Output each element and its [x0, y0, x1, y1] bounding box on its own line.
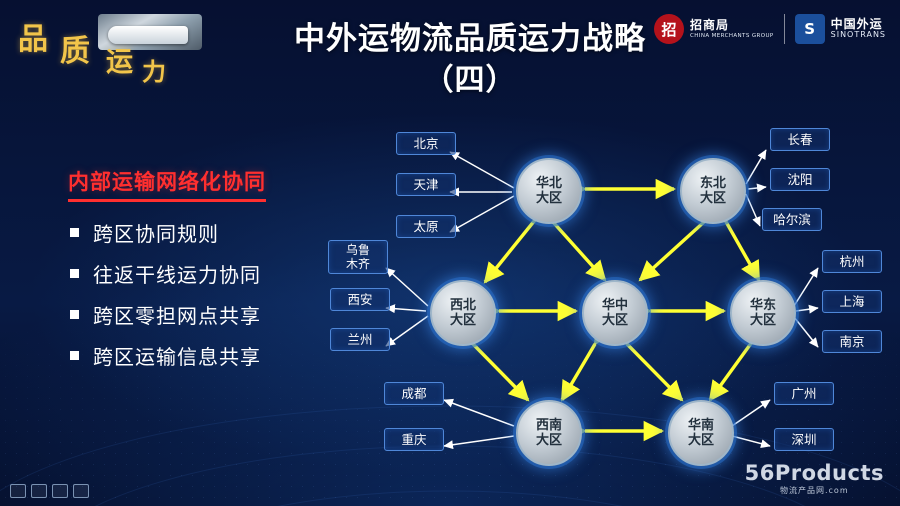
hub-label-line2: 大区: [536, 191, 562, 206]
hub-label-line1: 东北: [700, 176, 726, 191]
cmg-logo-icon: 招: [654, 14, 684, 44]
section-heading: 内部运输网络化协同: [68, 166, 266, 202]
shape-icon[interactable]: [52, 484, 68, 498]
slide-title: 中外运物流品质运力战略 （四）: [220, 18, 720, 102]
hub-dongbei[interactable]: 东北 大区: [680, 158, 746, 224]
bullet-label: 跨区协同规则: [93, 218, 219, 247]
hub-label-line1: 华东: [750, 298, 776, 313]
cmg-text: 招商局 CHINA MERCHANTS GROUP: [690, 19, 774, 39]
bullet-label: 跨区零担网点共享: [93, 300, 261, 329]
sinotrans-text: 中国外运 SINOTRANS: [831, 18, 886, 40]
city-changchun[interactable]: 长春: [770, 128, 830, 151]
brand-divider: [784, 14, 785, 44]
brand-sinotrans: S 中国外运 SINOTRANS: [795, 14, 886, 44]
bullet-square-icon: [70, 351, 79, 360]
city-taiyuan[interactable]: 太原: [396, 215, 456, 238]
hub-label-line2: 大区: [688, 433, 714, 448]
hub-label-line1: 华北: [536, 176, 562, 191]
city-guangzhou[interactable]: 广州: [774, 382, 834, 405]
logo-char-3: 运: [106, 40, 133, 79]
bullet-item-2: 往返干线运力协同: [70, 259, 261, 288]
slide-title-line2: （四）: [220, 60, 720, 102]
hub-label-line2: 大区: [750, 313, 776, 328]
hub-label-line2: 大区: [700, 191, 726, 206]
screen-icon[interactable]: [73, 484, 89, 498]
network-diagram: 华北 大区 东北 大区 西北 大区 华中 大区 华东 大区 西南 大区 华南 大…: [300, 110, 900, 470]
viewer-toolbar[interactable]: [10, 484, 89, 498]
watermark: 56Products 物流产品网.com: [745, 461, 884, 496]
city-chengdu[interactable]: 成都: [384, 382, 444, 405]
city-hangzhou[interactable]: 杭州: [822, 250, 882, 273]
hub-huazhong[interactable]: 华中 大区: [582, 280, 648, 346]
section-heading-text: 内部运输网络化协同: [68, 170, 266, 194]
hub-huadong[interactable]: 华东 大区: [730, 280, 796, 346]
city-tianjin[interactable]: 天津: [396, 173, 456, 196]
hub-label-line2: 大区: [602, 313, 628, 328]
city-shanghai[interactable]: 上海: [822, 290, 882, 313]
sinotrans-logo-icon: S: [795, 14, 825, 44]
hub-label-line1: 华中: [602, 298, 628, 313]
brand-marks: 招 招商局 CHINA MERCHANTS GROUP S 中国外运 SINOT…: [654, 14, 886, 44]
sinotrans-name-en: SINOTRANS: [831, 31, 886, 40]
brand-cmg: 招 招商局 CHINA MERCHANTS GROUP: [654, 14, 774, 44]
city-chongqing[interactable]: 重庆: [384, 428, 444, 451]
hub-label-line1: 西南: [536, 418, 562, 433]
watermark-main: 56Products: [745, 461, 884, 485]
logo-char-2: 质: [60, 26, 90, 70]
watermark-sub: 物流产品网.com: [745, 485, 884, 496]
slide-root: 品 质 运 力 中外运物流品质运力战略 （四） 招 招商局 CHINA MERC…: [0, 0, 900, 506]
city-shenzhen[interactable]: 深圳: [774, 428, 834, 451]
hub-huabei[interactable]: 华北 大区: [516, 158, 582, 224]
city-xian[interactable]: 西安: [330, 288, 390, 311]
sinotrans-name-cn: 中国外运: [831, 18, 886, 31]
hub-huanan[interactable]: 华南 大区: [668, 400, 734, 466]
slide-title-line1: 中外运物流品质运力战略: [294, 21, 646, 57]
cmg-name-cn: 招商局: [690, 19, 774, 32]
hub-xibei[interactable]: 西北 大区: [430, 280, 496, 346]
bullet-item-1: 跨区协同规则: [70, 218, 219, 247]
hub-label-line2: 大区: [450, 313, 476, 328]
bullet-square-icon: [70, 310, 79, 319]
section-heading-underline: [68, 199, 266, 202]
city-wulumuqi[interactable]: 乌鲁 木齐: [328, 240, 388, 274]
pen-icon[interactable]: [31, 484, 47, 498]
hub-label-line1: 西北: [450, 298, 476, 313]
logo-char-4: 力: [142, 52, 166, 87]
city-shenyang[interactable]: 沈阳: [770, 168, 830, 191]
bullet-square-icon: [70, 269, 79, 278]
cmg-name-en: CHINA MERCHANTS GROUP: [690, 33, 774, 39]
bullet-item-4: 跨区运输信息共享: [70, 341, 261, 370]
hub-label-line1: 华南: [688, 418, 714, 433]
city-haerbin[interactable]: 哈尔滨: [762, 208, 822, 231]
bullet-item-3: 跨区零担网点共享: [70, 300, 261, 329]
city-nanjing[interactable]: 南京: [822, 330, 882, 353]
hub-xinan[interactable]: 西南 大区: [516, 400, 582, 466]
slide-icon[interactable]: [10, 484, 26, 498]
logo-char-1: 品: [18, 14, 48, 58]
bullet-label: 跨区运输信息共享: [93, 341, 261, 370]
city-beijing[interactable]: 北京: [396, 132, 456, 155]
brand-logo: 品 质 运 力: [14, 10, 204, 74]
hub-label-line2: 大区: [536, 433, 562, 448]
bullet-square-icon: [70, 228, 79, 237]
city-lanzhou[interactable]: 兰州: [330, 328, 390, 351]
bullet-label: 往返干线运力协同: [93, 259, 261, 288]
